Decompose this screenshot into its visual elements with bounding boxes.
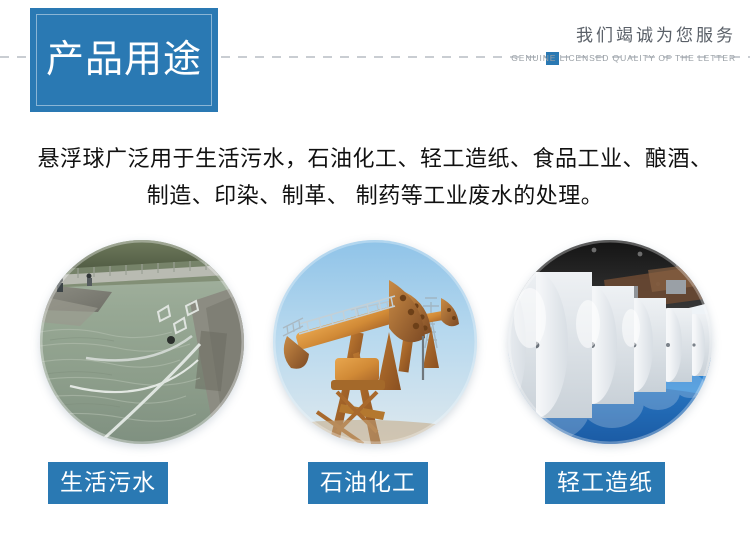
application-card: 生活污水 bbox=[40, 240, 244, 504]
card-label-badge: 轻工造纸 bbox=[545, 462, 665, 504]
section-title-box: 产品用途 bbox=[30, 8, 218, 112]
application-card-list: 生活污水 bbox=[0, 240, 750, 510]
slogan-english: GENUINE LICENSED QUALITY OF THE LETTER bbox=[506, 53, 736, 63]
card-label-badge: 石油化工 bbox=[308, 462, 428, 504]
description-line-2: 制造、印染、制革、 制药等工业废水的处理。 bbox=[18, 177, 732, 214]
paper-rolls-photo bbox=[508, 240, 712, 444]
application-card: 石油化工 bbox=[273, 240, 477, 504]
slogan-chinese: 我们竭诚为您服务 bbox=[506, 24, 736, 49]
domestic-sewage-canal-photo bbox=[40, 240, 244, 444]
slogan-block: 我们竭诚为您服务 GENUINE LICENSED QUALITY OF THE… bbox=[506, 24, 736, 63]
product-description: 悬浮球广泛用于生活污水，石油化工、轻工造纸、食品工业、酿酒、 制造、印染、制革、… bbox=[18, 140, 732, 214]
application-card: 轻工造纸 bbox=[508, 240, 712, 504]
description-line-1: 悬浮球广泛用于生活污水，石油化工、轻工造纸、食品工业、酿酒、 bbox=[18, 140, 732, 177]
page-title: 产品用途 bbox=[46, 41, 202, 79]
page-header: 产品用途 我们竭诚为您服务 GENUINE LICENSED QUALITY O… bbox=[0, 0, 750, 120]
oil-pumpjack-photo bbox=[273, 240, 477, 444]
card-label-badge: 生活污水 bbox=[48, 462, 168, 504]
